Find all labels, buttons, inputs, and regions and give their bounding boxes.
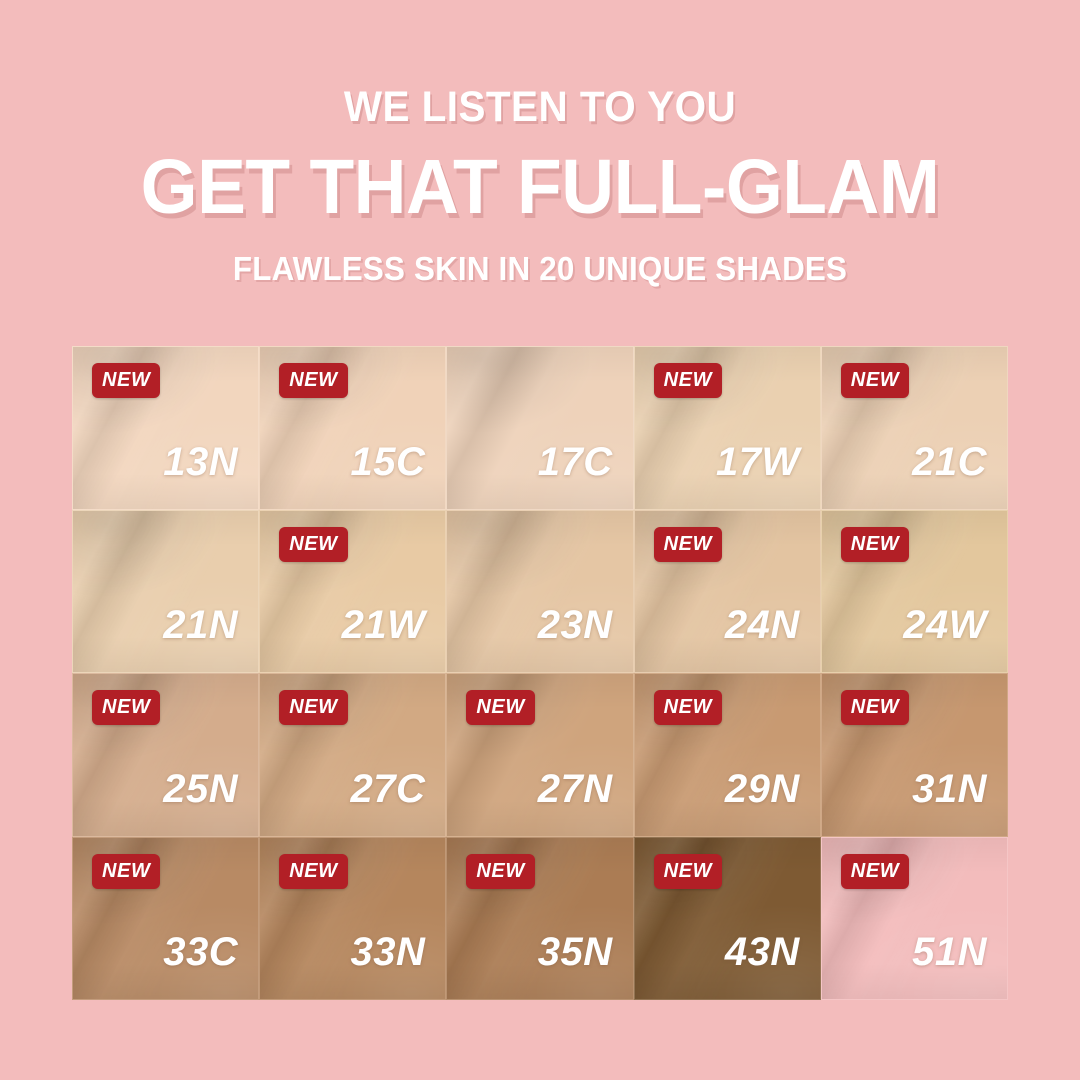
new-badge: NEW [279,690,347,725]
shade-swatch[interactable]: NEW17W [634,346,821,510]
shade-swatch[interactable]: NEW13N [72,346,259,510]
shade-code-label: 17C [538,442,613,482]
shade-swatch[interactable]: 17C [446,346,633,510]
subheading-text: FLAWLESS SKIN IN 20 UNIQUE SHADES [27,252,1053,285]
shade-swatch[interactable]: NEW24W [821,510,1008,674]
new-badge: NEW [654,363,722,398]
page-title: GET THAT FULL-GLAM [27,149,1053,226]
new-badge: NEW [92,690,160,725]
shade-code-label: 24N [725,605,800,645]
shade-code-label: 21N [163,605,238,645]
shade-code-label: 21C [912,442,987,482]
shade-swatch[interactable]: NEW29N [634,673,821,837]
shade-swatch[interactable]: 23N [446,510,633,674]
shade-swatch[interactable]: 21N [72,510,259,674]
shade-code-label: 29N [725,769,800,809]
shade-code-label: 43N [725,932,800,972]
shade-swatch[interactable]: NEW33C [72,837,259,1001]
new-badge: NEW [841,690,909,725]
shade-code-label: 17W [716,442,800,482]
heading-block: WE LISTEN TO YOU GET THAT FULL-GLAM FLAW… [0,86,1080,285]
promo-poster: WE LISTEN TO YOU GET THAT FULL-GLAM FLAW… [0,0,1080,1080]
shade-swatch[interactable]: NEW51N [821,837,1008,1001]
shade-swatch[interactable]: NEW31N [821,673,1008,837]
shade-swatch[interactable]: NEW25N [72,673,259,837]
shade-code-label: 35N [538,932,613,972]
shade-swatch[interactable]: NEW27C [259,673,446,837]
shade-grid: NEW13NNEW15C17CNEW17WNEW21C21NNEW21W23NN… [72,346,1008,1000]
shade-code-label: 27N [538,769,613,809]
new-badge: NEW [466,854,534,889]
new-badge: NEW [466,690,534,725]
shade-swatch[interactable]: NEW35N [446,837,633,1001]
shade-swatch[interactable]: NEW21C [821,346,1008,510]
shade-code-label: 25N [163,769,238,809]
new-badge: NEW [654,527,722,562]
shade-swatch[interactable]: NEW15C [259,346,446,510]
shade-code-label: 24W [903,605,987,645]
new-badge: NEW [92,363,160,398]
shade-code-label: 33N [351,932,426,972]
shade-code-label: 51N [912,932,987,972]
shade-code-label: 13N [163,442,238,482]
shade-swatch[interactable]: NEW24N [634,510,821,674]
shade-swatch[interactable]: NEW43N [634,837,821,1001]
shade-code-label: 31N [912,769,987,809]
shade-swatch[interactable]: NEW33N [259,837,446,1001]
shade-code-label: 15C [351,442,426,482]
shade-code-label: 33C [163,932,238,972]
new-badge: NEW [841,527,909,562]
shade-swatch[interactable]: NEW21W [259,510,446,674]
shade-code-label: 21W [342,605,426,645]
new-badge: NEW [654,854,722,889]
eyebrow-text: WE LISTEN TO YOU [32,86,1047,129]
new-badge: NEW [92,854,160,889]
new-badge: NEW [279,527,347,562]
shade-code-label: 23N [538,605,613,645]
new-badge: NEW [841,363,909,398]
new-badge: NEW [279,854,347,889]
new-badge: NEW [279,363,347,398]
shade-code-label: 27C [351,769,426,809]
shade-swatch[interactable]: NEW27N [446,673,633,837]
new-badge: NEW [841,854,909,889]
new-badge: NEW [654,690,722,725]
